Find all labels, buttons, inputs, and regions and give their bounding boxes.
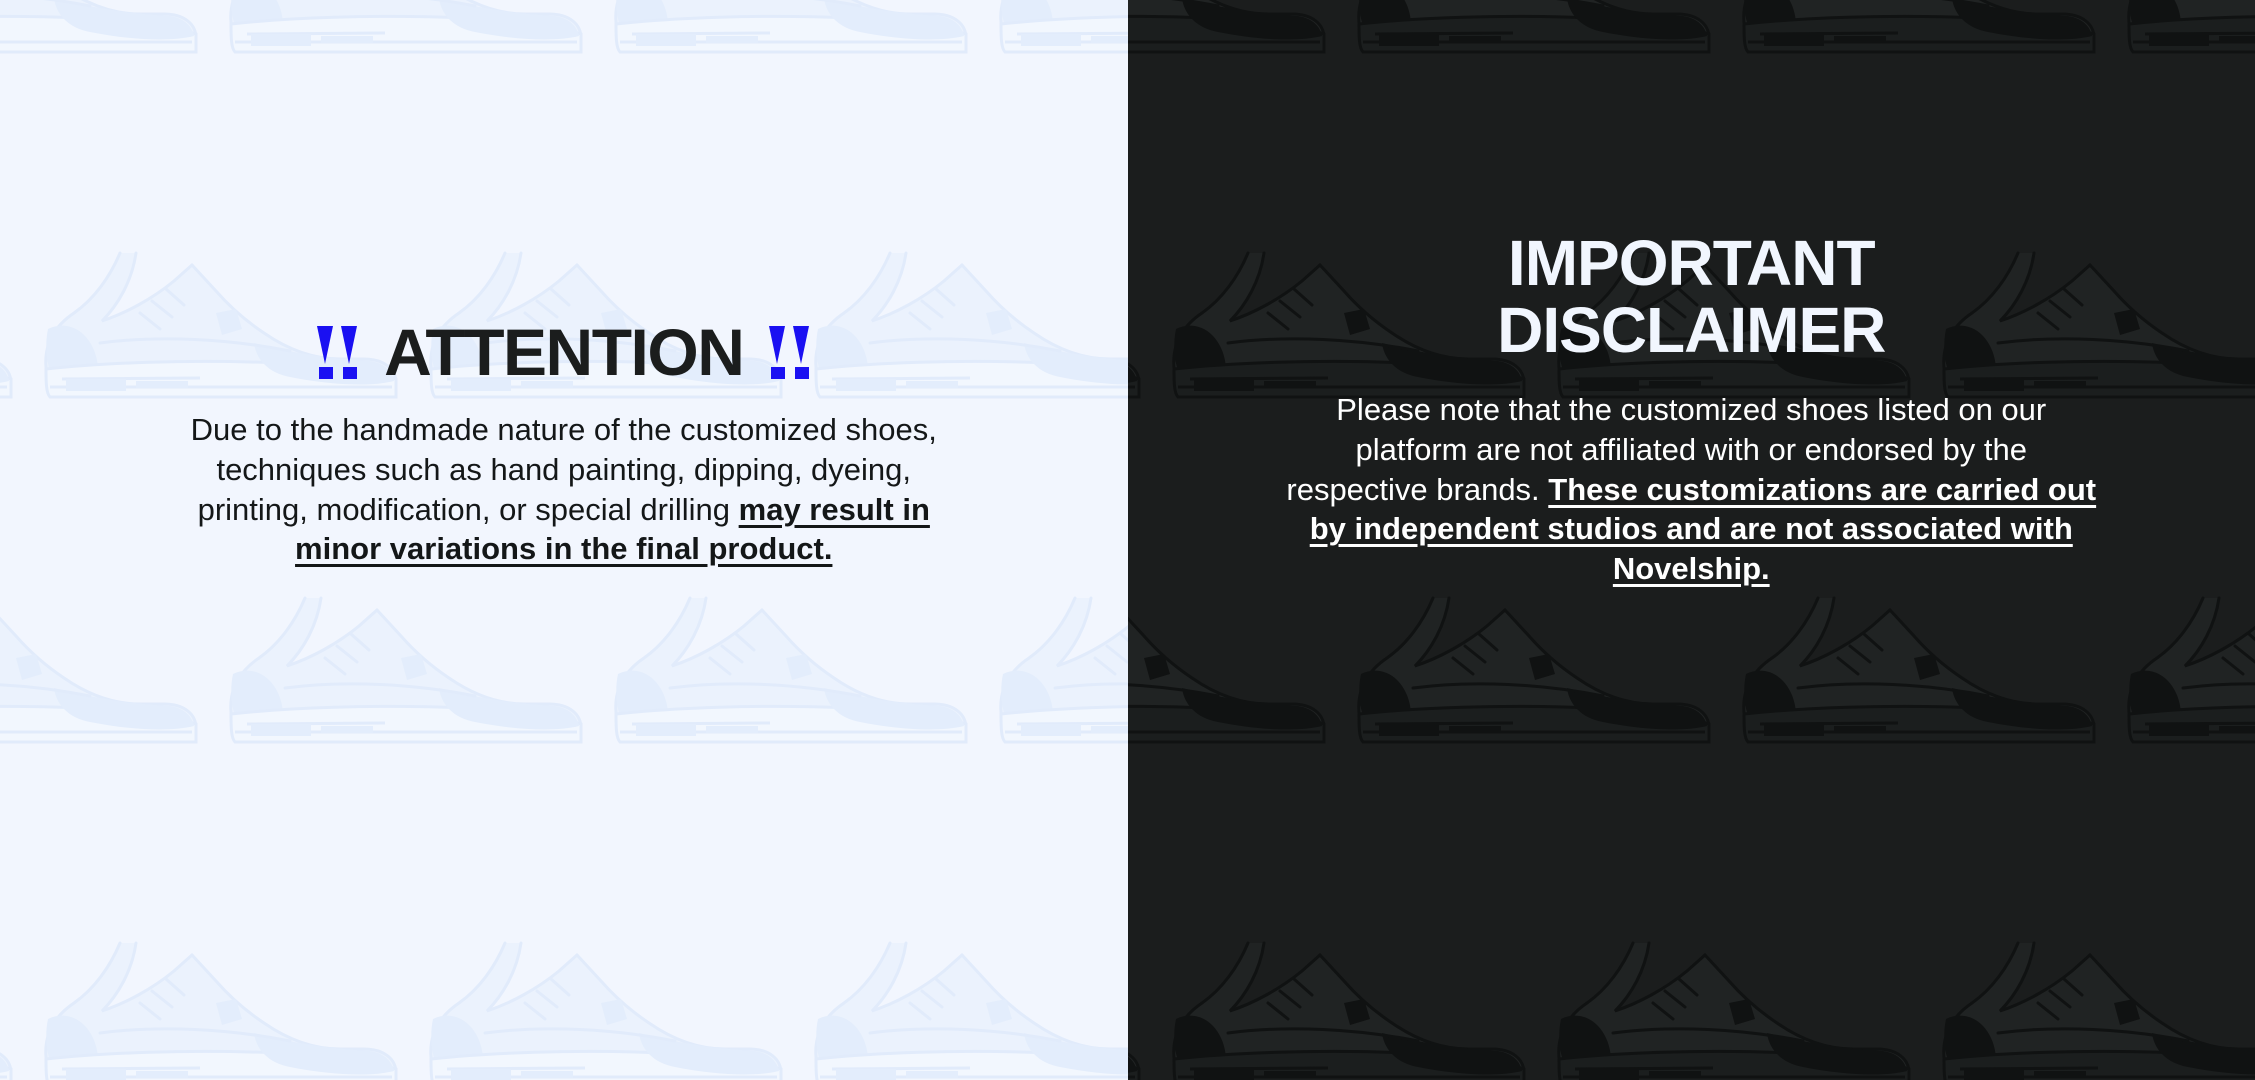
- attention-panel: ATTENTION Due to the handmade nature of …: [0, 0, 1128, 1080]
- attention-body-text: Due to the handmade nature of the custom…: [164, 410, 964, 569]
- disclaimer-heading-line-1: IMPORTANT: [1128, 230, 2255, 297]
- disclaimer-banner: ATTENTION Due to the handmade nature of …: [0, 0, 2255, 1080]
- disclaimer-panel: IMPORTANT DISCLAIMER Please note that th…: [1128, 0, 2255, 1080]
- disclaimer-heading-line-2: DISCLAIMER: [1128, 297, 2255, 364]
- disclaimer-heading: IMPORTANT DISCLAIMER: [1128, 230, 2255, 364]
- double-exclamation-icon-left: [317, 326, 358, 379]
- attention-heading: ATTENTION: [0, 318, 1128, 388]
- disclaimer-body-text: Please note that the customized shoes li…: [1286, 390, 2096, 588]
- double-exclamation-icon-right: [769, 326, 810, 379]
- attention-heading-word: ATTENTION: [384, 318, 743, 388]
